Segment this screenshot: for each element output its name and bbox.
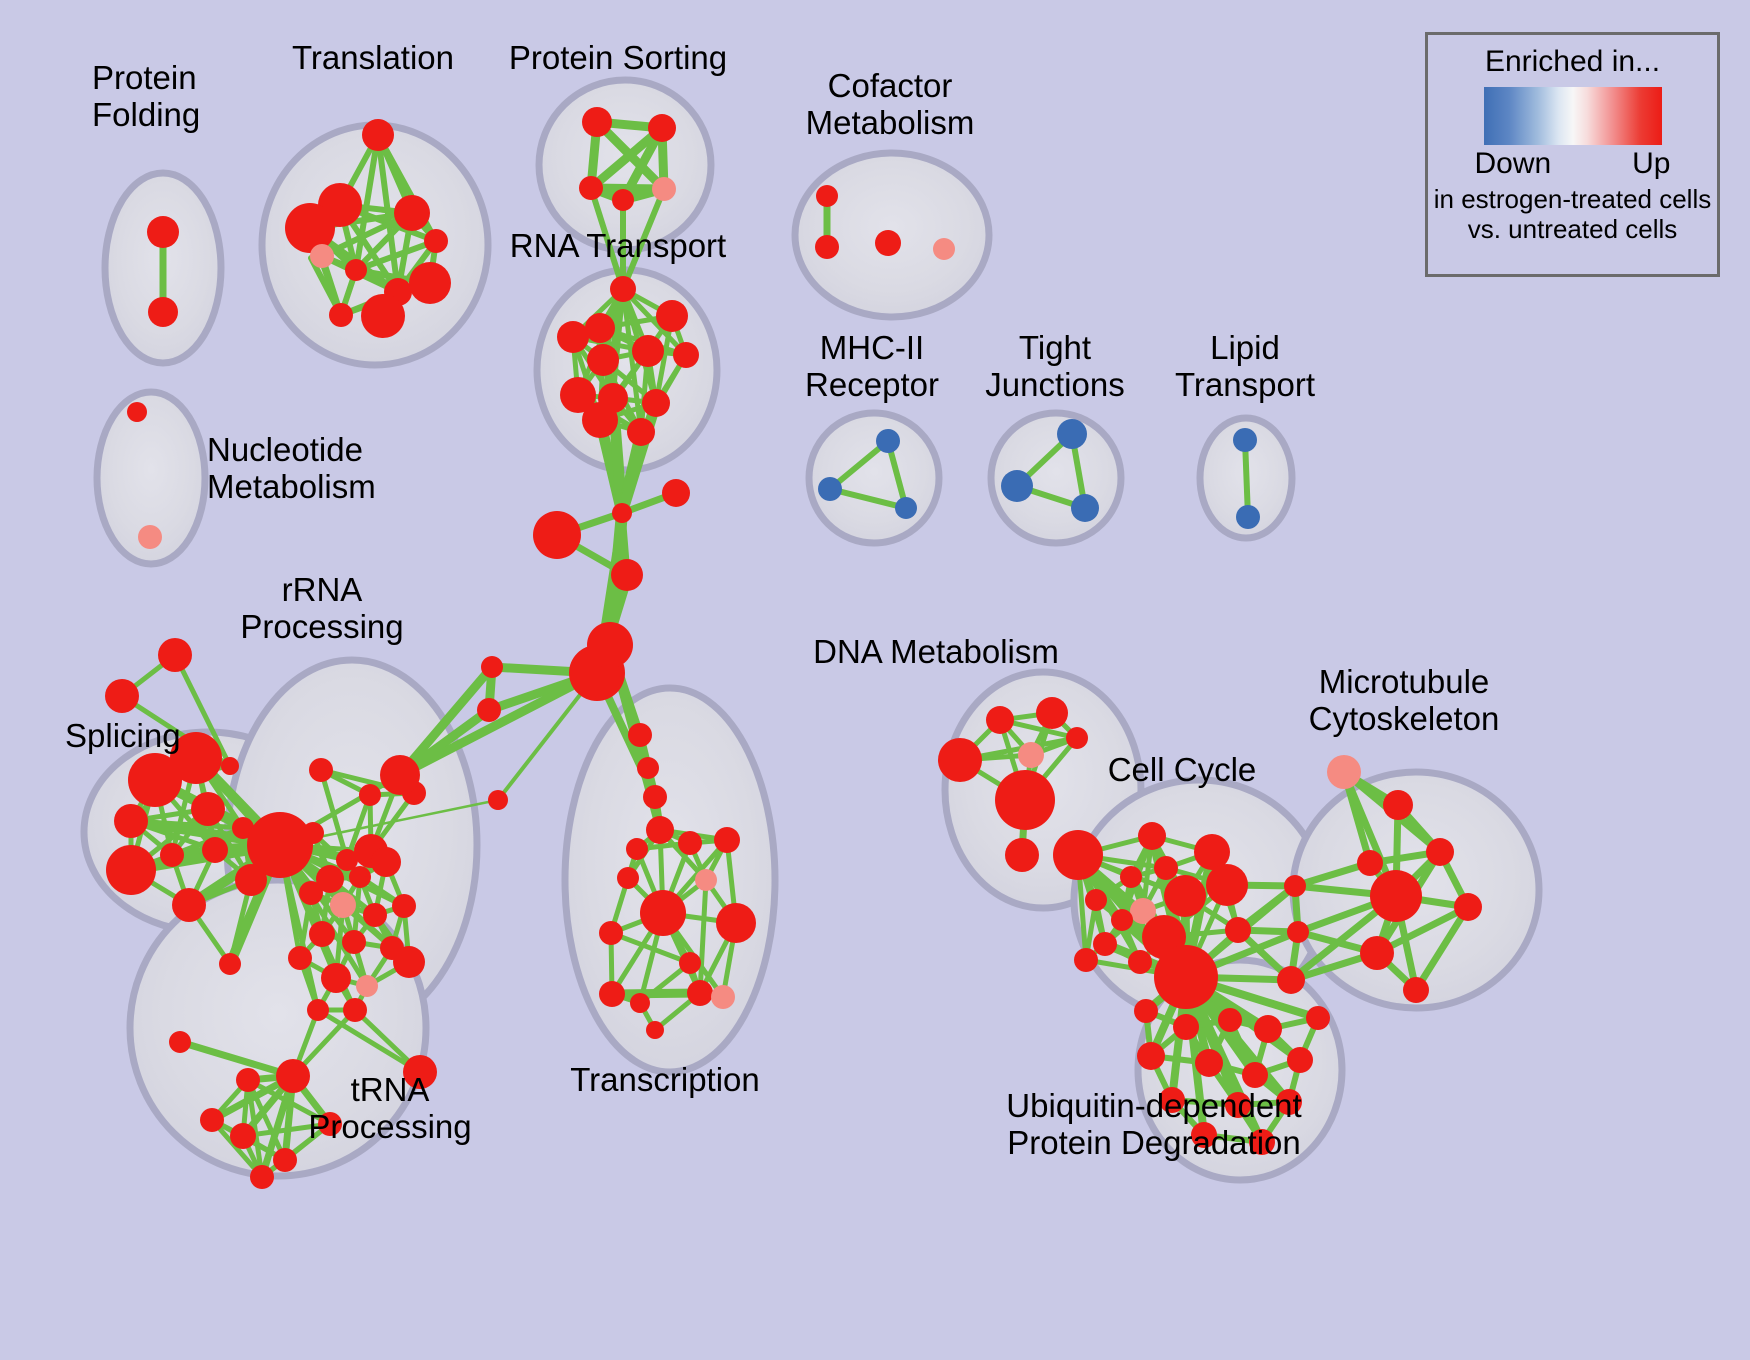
- legend-endpoints: Down Up: [1475, 147, 1671, 181]
- label-dna-metabolism: DNA Metabolism: [813, 634, 1059, 671]
- label-trna-processing: tRNA Processing: [308, 1072, 471, 1146]
- label-lipid-transport: Lipid Transport: [1175, 330, 1315, 404]
- legend-low-label: Down: [1475, 147, 1552, 181]
- label-cofactor-metabolism: Cofactor Metabolism: [806, 68, 975, 142]
- label-splicing: Splicing: [65, 718, 181, 755]
- legend-title: Enriched in...: [1485, 45, 1660, 79]
- label-protein-sorting: Protein Sorting: [509, 40, 727, 77]
- legend-colorbar: [1484, 87, 1662, 145]
- label-protein-folding: Protein Folding: [92, 60, 200, 134]
- label-microtubule-cytoskeleton: Microtubule Cytoskeleton: [1309, 664, 1500, 738]
- legend-caption-line2: vs. untreated cells: [1468, 215, 1678, 245]
- label-translation: Translation: [292, 40, 454, 77]
- label-rrna-processing: rRNA Processing: [240, 572, 403, 646]
- label-transcription: Transcription: [570, 1062, 760, 1099]
- label-cell-cycle: Cell Cycle: [1108, 752, 1257, 789]
- label-tight-junctions: Tight Junctions: [985, 330, 1124, 404]
- legend-box: Enriched in... Down Up in estrogen-treat…: [1425, 32, 1720, 277]
- label-rna-transport: RNA Transport: [510, 228, 726, 265]
- hull-transcription: [565, 688, 775, 1072]
- label-ubiquitin-degradation: Ubiquitin-dependent Protein Degradation: [1006, 1088, 1301, 1162]
- legend-caption-line1: in estrogen-treated cells: [1434, 185, 1711, 215]
- legend-high-label: Up: [1632, 147, 1670, 181]
- label-mhc-ii-receptor: MHC-II Receptor: [805, 330, 939, 404]
- label-nucleotide-metabolism: Nucleotide Metabolism: [207, 432, 376, 506]
- enrichment-map-figure: Protein Folding Translation Protein Sort…: [0, 0, 1750, 1360]
